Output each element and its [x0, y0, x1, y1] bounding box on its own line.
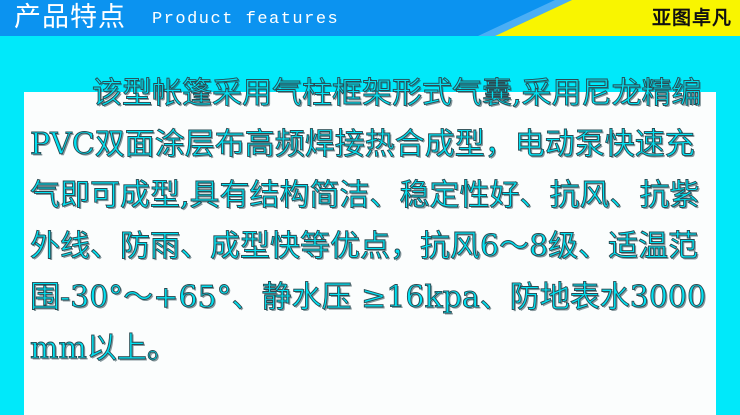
header-title-english: Product features — [152, 9, 339, 31]
product-features-paragraph: 该型帐篷采用气柱框架形式气囊,采用尼龙精编PVC双面涂层布高频焊接热合成型，电动… — [30, 68, 718, 374]
slide-header: 产品特点 Product features 亚图卓凡 — [0, 0, 740, 36]
slide-root: 产品特点 Product features 亚图卓凡 该型帐篷采用气柱框架形式气… — [0, 0, 740, 415]
brand-logo-text: 亚图卓凡 — [652, 6, 732, 30]
header-title-chinese: 产品特点 — [14, 1, 126, 34]
